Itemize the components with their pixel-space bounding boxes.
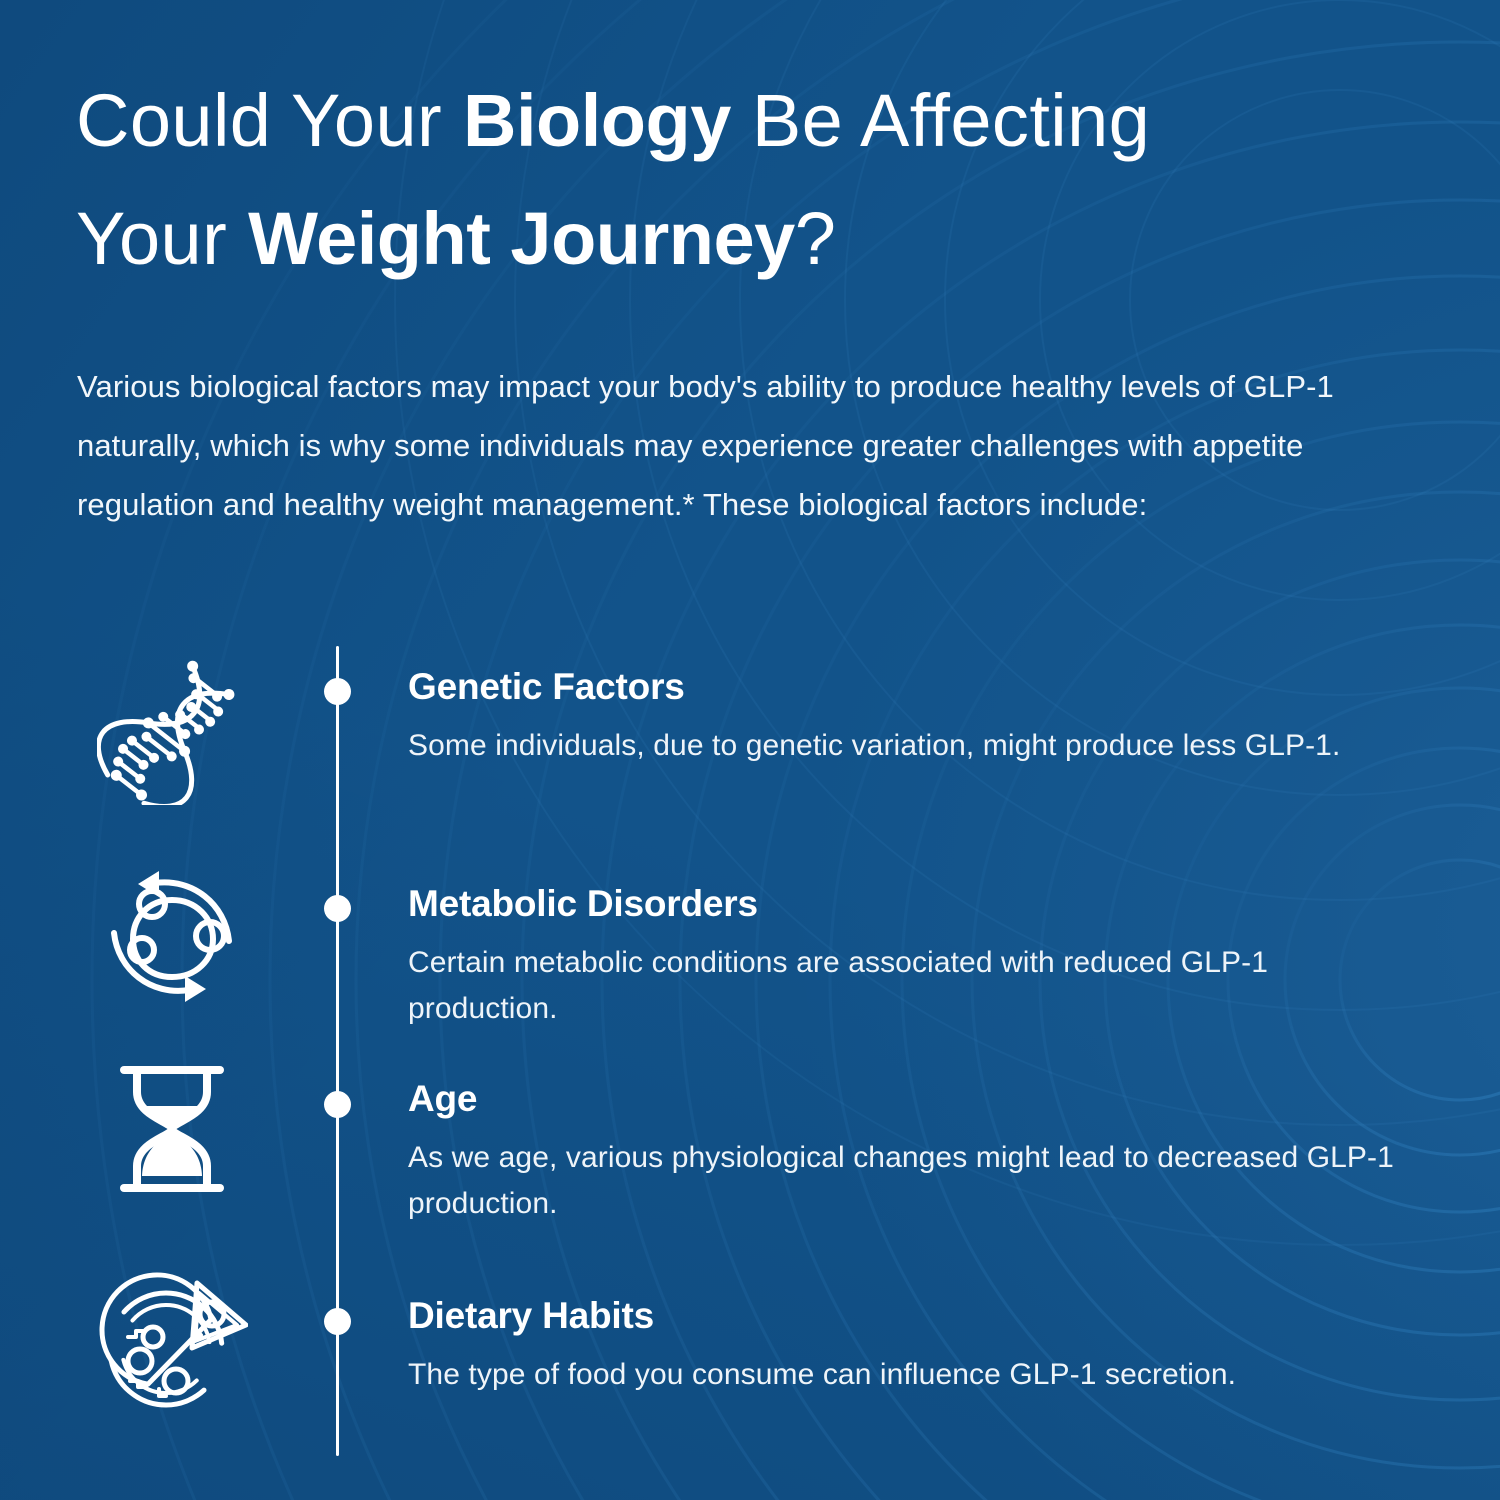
timeline-dot [324,678,351,705]
factor-title: Dietary Habits [408,1294,1418,1338]
factor-list: Genetic Factors Some individuals, due to… [0,0,1500,1500]
factor-text-block: Genetic Factors Some individuals, due to… [408,665,1418,769]
factor-description: As we age, various physiological changes… [408,1135,1408,1227]
timeline-dot [324,1308,351,1335]
factor-title: Metabolic Disorders [408,882,1418,926]
factor-description: The type of food you consume can influen… [408,1352,1408,1398]
factor-title: Genetic Factors [408,665,1418,709]
factor-title: Age [408,1077,1418,1121]
factor-text-block: Metabolic Disorders Certain metabolic co… [408,882,1418,1032]
metabolism-cycle-icon [92,851,252,1016]
pizza-slice-icon [92,1256,252,1421]
timeline-dot [324,895,351,922]
dna-icon [92,647,252,812]
factor-text-block: Dietary Habits The type of food you cons… [408,1294,1418,1398]
infographic-canvas: Could Your Biology Be Affecting Your Wei… [0,0,1500,1500]
factor-description: Some individuals, due to genetic variati… [408,723,1408,769]
factor-text-block: Age As we age, various physiological cha… [408,1077,1418,1227]
factor-description: Certain metabolic conditions are associa… [408,940,1408,1032]
hourglass-icon [92,1046,252,1211]
timeline-dot [324,1091,351,1118]
